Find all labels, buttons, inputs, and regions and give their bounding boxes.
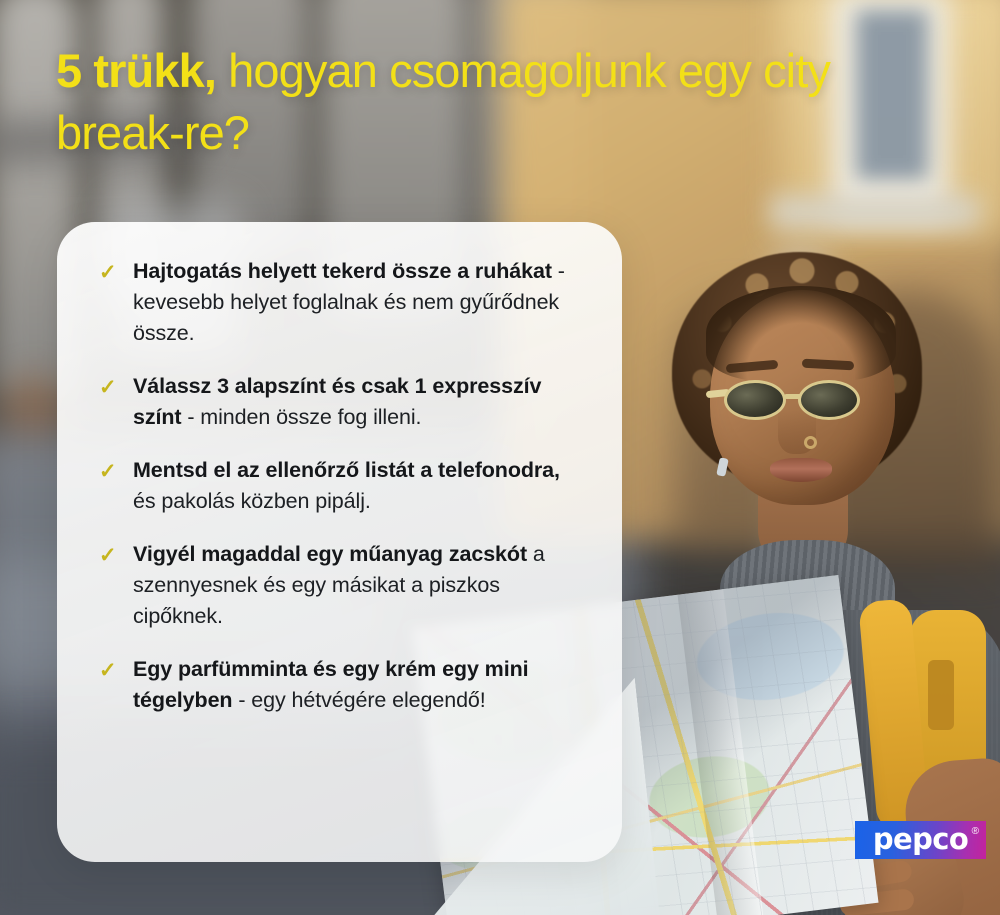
page-title: 5 trükk, hogyan csomagoljunk egy city br… — [56, 40, 956, 164]
checkmark-icon: ✓ — [99, 377, 125, 398]
checkmark-icon: ✓ — [99, 545, 125, 566]
map-fold-crease — [677, 589, 763, 915]
sunglasses-lens — [724, 380, 786, 420]
list-item: ✓ Vigyél magaddal egy műanyag zacskót a … — [99, 539, 602, 632]
nose-ring — [804, 436, 817, 449]
list-item-text: Hajtogatás helyett tekerd össze a ruháka… — [133, 256, 585, 349]
list-item-bold: Mentsd el az ellenőrző listát a telefono… — [133, 458, 560, 482]
list-item-bold: Vigyél magaddal egy műanyag zacskót — [133, 542, 527, 566]
list-item-text: Vigyél magaddal egy műanyag zacskót a sz… — [133, 539, 585, 632]
list-item-rest: - minden össze fog illeni. — [181, 405, 421, 429]
list-item-text: Válassz 3 alapszínt és csak 1 expresszív… — [133, 371, 585, 433]
registered-trademark-icon: ® — [972, 827, 979, 837]
checkmark-icon: ✓ — [99, 262, 125, 283]
list-item-bold: Hajtogatás helyett tekerd össze a ruháka… — [133, 259, 552, 283]
list-item: ✓ Hajtogatás helyett tekerd össze a ruhá… — [99, 256, 602, 349]
list-item-rest: és pakolás közben pipálj. — [133, 489, 371, 513]
pepco-logo-wordmark: pepco — [873, 825, 968, 854]
infographic-canvas: 5 trükk, hogyan csomagoljunk egy city br… — [0, 0, 1000, 915]
tips-list: ✓ Hajtogatás helyett tekerd össze a ruhá… — [99, 256, 602, 716]
checkmark-icon: ✓ — [99, 461, 125, 482]
checkmark-icon: ✓ — [99, 660, 125, 681]
backpack-buckle — [928, 660, 954, 730]
list-item: ✓ Válassz 3 alapszínt és csak 1 expressz… — [99, 371, 602, 433]
pepco-logo[interactable]: pepco ® — [855, 821, 986, 859]
list-item-text: Egy parfümminta és egy krém egy mini tég… — [133, 654, 585, 716]
tips-card: ✓ Hajtogatás helyett tekerd össze a ruhá… — [57, 222, 622, 862]
lips — [770, 458, 832, 482]
list-item-rest: - egy hétvégére elegendő! — [232, 688, 485, 712]
list-item-text: Mentsd el az ellenőrző listát a telefono… — [133, 455, 585, 517]
list-item: ✓ Mentsd el az ellenőrző listát a telefo… — [99, 455, 602, 517]
list-item: ✓ Egy parfümminta és egy krém egy mini t… — [99, 654, 602, 716]
page-title-bold: 5 trükk, — [56, 44, 216, 97]
